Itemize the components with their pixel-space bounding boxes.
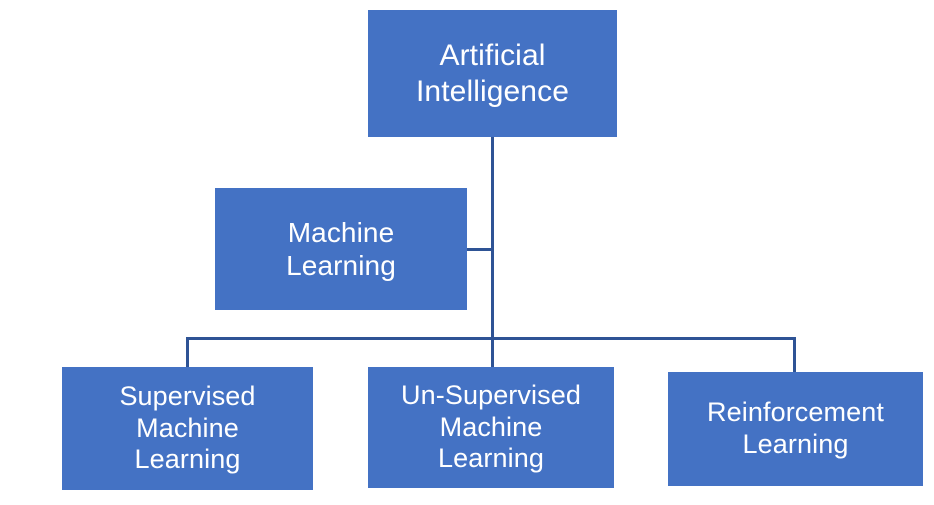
node-un-supervised-machine-learning: Un-Supervised Machine Learning (368, 367, 614, 488)
diagram-canvas: Artificial Intelligence Machine Learning… (0, 0, 934, 505)
node-machine-learning: Machine Learning (215, 188, 467, 310)
node-supervised-machine-learning: Supervised Machine Learning (62, 367, 313, 490)
node-reinforcement-learning: Reinforcement Learning (668, 372, 923, 486)
node-artificial-intelligence: Artificial Intelligence (368, 10, 617, 137)
